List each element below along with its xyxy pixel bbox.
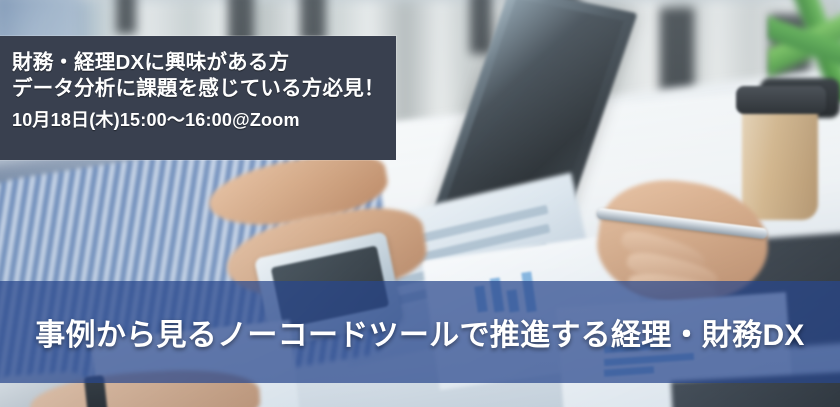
info-line-1: 財務・経理DXに興味がある方	[12, 50, 396, 76]
info-line-2: データ分析に課題を感じている方必見！	[12, 76, 396, 102]
webinar-banner: 財務・経理DXに興味がある方 データ分析に課題を感じている方必見！ 10月18日…	[0, 0, 840, 407]
schedule-line: 10月18日(木)15:00〜16:00@Zoom	[12, 108, 396, 133]
coffee-cup-lid	[736, 86, 826, 114]
info-box: 財務・経理DXに興味がある方 データ分析に課題を感じている方必見！ 10月18日…	[0, 36, 396, 160]
window-mullion	[116, 0, 136, 34]
coffee-cup-icon	[742, 100, 818, 220]
banner-title: 事例から見るノーコードツールで推進する経理・財務DX	[35, 310, 804, 354]
title-band: 事例から見るノーコードツールで推進する経理・財務DX	[0, 281, 840, 383]
